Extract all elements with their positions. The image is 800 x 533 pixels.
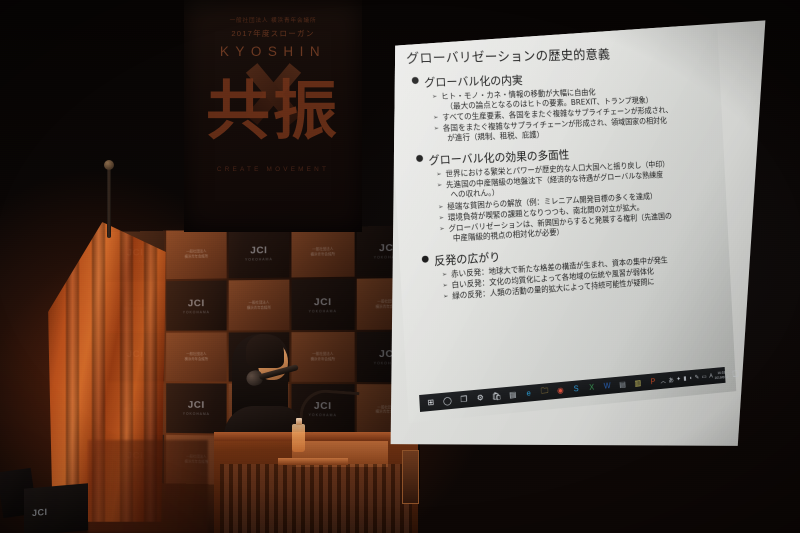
skype-icon[interactable]: S bbox=[568, 380, 585, 398]
notification-center-icon[interactable]: ❏ bbox=[728, 365, 743, 382]
arrow-bullet-icon: ➢ bbox=[438, 202, 444, 212]
task-view-icon-glyph: ❐ bbox=[460, 395, 467, 405]
projection-screen: グローバリゼーションの歴史的意義 ●グローバル化の内実➢ヒト・モノ・カネ・情報の… bbox=[386, 16, 770, 452]
arrow-bullet-icon: ➢ bbox=[442, 270, 448, 280]
slide-sub-item-continuation: が進行（規制、租税、庇護） bbox=[447, 124, 714, 143]
slide-section: ●グローバル化の内実➢ヒト・モノ・カネ・情報の移動が大幅に自由化（最大の論点とな… bbox=[401, 68, 714, 146]
podium-side-plate bbox=[402, 450, 419, 504]
start-button[interactable]: ⊞ bbox=[422, 393, 440, 411]
app-grey-icon-glyph: ▤ bbox=[619, 380, 626, 389]
task-view-icon[interactable]: ❐ bbox=[455, 390, 472, 408]
banner-org-line: 一般社団法人 横浜青年会議所 bbox=[184, 16, 362, 24]
battery-icon[interactable]: ▮ bbox=[683, 375, 686, 382]
podium-slats bbox=[220, 464, 412, 533]
bullet-dot-icon: ● bbox=[411, 75, 419, 87]
slide-section-heading-text: グローバル化の内実 bbox=[424, 72, 523, 90]
powerpoint-icon-glyph: P bbox=[650, 377, 655, 386]
excel-icon-glyph: X bbox=[589, 383, 594, 392]
venue-banner: 一般社団法人 横浜青年会議所 2017年度スローガン KYOSHIN 共振 CR… bbox=[184, 0, 362, 232]
arrow-bullet-icon: ➢ bbox=[439, 225, 445, 235]
jci-prop-label: JCI bbox=[32, 507, 48, 518]
banner-romaji: KYOSHIN bbox=[184, 44, 362, 59]
word-icon-glyph: W bbox=[603, 381, 610, 390]
stage-scene: 一般社団法人 横浜青年会議所 2017年度スローガン KYOSHIN 共振 CR… bbox=[0, 0, 800, 533]
cortana-search-icon[interactable]: ◯ bbox=[439, 392, 456, 410]
powerpoint-icon[interactable]: P bbox=[645, 373, 661, 391]
arrow-bullet-icon: ➢ bbox=[437, 181, 443, 191]
store-icon-glyph: 🛍 bbox=[491, 391, 501, 401]
slide-section-heading-text: 反発の広がり bbox=[434, 249, 501, 269]
speaker-hair-front bbox=[246, 334, 284, 368]
start-button-glyph: ⊞ bbox=[427, 398, 434, 408]
arrow-bullet-icon: ➢ bbox=[442, 281, 448, 291]
show-hidden-icons[interactable]: ︿ bbox=[660, 376, 666, 385]
flag-pole bbox=[107, 168, 111, 238]
keyboard-icon[interactable]: ▭ bbox=[702, 373, 707, 380]
pen-icon[interactable]: ✎ bbox=[695, 374, 700, 381]
store-icon[interactable]: 🛍 bbox=[488, 387, 505, 405]
settings-gear-icon-glyph: ⚙ bbox=[477, 393, 484, 402]
projection-screen-area: グローバリゼーションの歴史的意義 ●グローバル化の内実➢ヒト・モノ・カネ・情報の… bbox=[386, 16, 770, 452]
arrow-bullet-icon: ➢ bbox=[432, 92, 438, 102]
presentation-slide: グローバリゼーションの歴史的意義 ●グローバル化の内実➢ヒト・モノ・カネ・情報の… bbox=[387, 25, 737, 423]
edge-browser-icon[interactable]: e bbox=[520, 384, 537, 402]
ime-status-icon[interactable]: あ bbox=[668, 375, 674, 384]
banner-year-line: 2017年度スローガン bbox=[184, 28, 362, 39]
stage-curtain bbox=[88, 440, 208, 533]
taskbar-icon-group[interactable]: ⊞◯❐⚙🛍▤e🗀◉SXW▤▥P bbox=[422, 373, 661, 412]
slide-body: ●グローバル化の内実➢ヒト・モノ・カネ・情報の移動が大幅に自由化（最大の論点とな… bbox=[401, 68, 722, 305]
projected-image: グローバリゼーションの歴史的意義 ●グローバル化の内実➢ヒト・モノ・カネ・情報の… bbox=[374, 12, 752, 454]
chrome-browser-icon-glyph: ◉ bbox=[557, 386, 564, 395]
notepad-icon[interactable]: ▥ bbox=[630, 374, 646, 392]
arrow-bullet-icon: ➢ bbox=[438, 213, 444, 223]
notepad-icon-glyph: ▥ bbox=[634, 378, 641, 387]
network-icon[interactable]: ✦ bbox=[676, 376, 681, 383]
word-icon[interactable]: W bbox=[599, 377, 615, 395]
water-bottle bbox=[292, 424, 305, 452]
app-grey-icon[interactable]: ▤ bbox=[614, 376, 630, 394]
clock-date: 2019/6/12 bbox=[715, 375, 729, 380]
volume-icon[interactable]: ◖ bbox=[689, 375, 692, 381]
banner-kanji: 共振 bbox=[184, 80, 362, 144]
skype-icon-glyph: S bbox=[573, 384, 578, 393]
system-tray[interactable]: ︿あ✦▮◖✎▭A bbox=[660, 372, 714, 386]
banner-tagline: CREATE MOVEMENT bbox=[184, 166, 362, 173]
microphone-gooseneck bbox=[300, 372, 360, 434]
bullet-dot-icon: ● bbox=[415, 153, 423, 165]
edge-browser-icon-glyph: e bbox=[526, 389, 531, 398]
taskbar-clock[interactable]: 16:53 2019/6/12 bbox=[714, 371, 728, 380]
reader-icon[interactable]: ▤ bbox=[504, 386, 521, 404]
jci-branded-prop: JCI bbox=[24, 483, 88, 533]
ime-letter-icon[interactable]: A bbox=[709, 373, 713, 379]
arrow-bullet-icon: ➢ bbox=[436, 170, 442, 180]
slide-section: ●反発の広がり➢赤い反発：地球大で新たな格差の構造が生まれ、資本の集中が発生➢白… bbox=[411, 235, 722, 304]
excel-icon[interactable]: X bbox=[583, 379, 599, 397]
slide-section: ●グローバル化の効果の多面性➢世界における繁栄とパワーが歴史的な人口大国へと揺り… bbox=[406, 141, 720, 246]
settings-gear-icon[interactable]: ⚙ bbox=[472, 389, 489, 407]
arrow-bullet-icon: ➢ bbox=[443, 292, 449, 302]
arrow-bullet-icon: ➢ bbox=[433, 113, 439, 123]
file-explorer-icon-glyph: 🗀 bbox=[541, 385, 549, 399]
windows-taskbar[interactable]: ⊞◯❐⚙🛍▤e🗀◉SXW▤▥P ︿あ✦▮◖✎▭A 16:53 2019/6/12… bbox=[419, 367, 725, 412]
reader-icon-glyph: ▤ bbox=[509, 390, 517, 399]
file-explorer-icon[interactable]: 🗀 bbox=[536, 383, 553, 401]
arrow-bullet-icon: ➢ bbox=[434, 125, 440, 135]
podium-shelf bbox=[278, 458, 348, 465]
cortana-search-icon-glyph: ◯ bbox=[443, 396, 452, 406]
slide-title: グローバリゼーションの歴史的意義 bbox=[406, 42, 711, 66]
bullet-dot-icon: ● bbox=[421, 253, 429, 266]
chrome-browser-icon[interactable]: ◉ bbox=[552, 381, 569, 399]
